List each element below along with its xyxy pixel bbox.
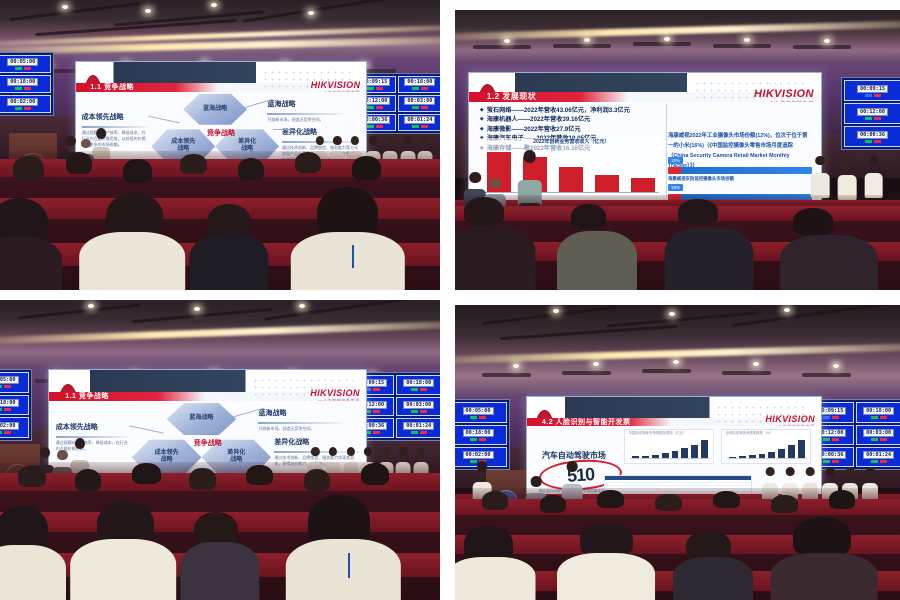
audience-shoulders [0, 237, 62, 290]
audience-shoulders [780, 235, 878, 290]
center-label-text: 竞争战略 [194, 438, 222, 448]
ceiling [0, 0, 440, 64]
timer-value: 00:01:24 [863, 451, 894, 459]
timer-value: 00:18:00 [0, 399, 19, 407]
mini-bar-value: 16% [668, 184, 683, 191]
timer-value: 00:03:00 [403, 401, 434, 409]
audience-area [455, 195, 900, 290]
audience-head [361, 463, 390, 485]
timer-value: 00:18:00 [863, 407, 894, 415]
timer-value: 00:03:00 [404, 97, 435, 105]
audience-head [75, 469, 101, 491]
hexagon-top: 蓝海战略 [167, 402, 237, 435]
timer-value: 00:09:15 [857, 85, 888, 93]
audience-head [180, 154, 206, 175]
ceiling [455, 10, 900, 66]
slide-section-tag: 1.1 竞争战略 [76, 83, 218, 92]
audience-head [352, 156, 381, 180]
judge [811, 156, 830, 201]
note-blue-ocean: 蓝海战略 开辟新市场，创造无竞争空间。 [267, 93, 343, 123]
bullet-item: ◆海康机器人——2022年营收39.16亿元 [480, 115, 663, 125]
audience-head [238, 158, 264, 180]
photo-panel-bottom-right: 00:05:00 00:18:00 00:02:00 00:09:15 00:1… [455, 305, 900, 600]
revenue-bar-chart: 2022年创新业务营收收入（亿元） [480, 138, 663, 200]
center-label-text: 竞争战略 [207, 128, 235, 138]
note-heading: 成本领先战略 [56, 424, 98, 431]
note-heading: 成本领先战略 [82, 114, 124, 121]
timer-cell: 00:02:00 [0, 95, 51, 113]
bullet-text: 萤石网络——2022年营收43.06亿元，净利润3.3亿元 [487, 106, 630, 116]
hikvision-wordmark: HIKVISION [311, 80, 361, 90]
audience-head [132, 463, 161, 484]
auditorium-scene: 00:05:00 00:18:00 00:02:00 00:09:15 00:1… [0, 0, 440, 290]
audience-head [793, 208, 833, 235]
timer-value: 00:18:00 [463, 429, 494, 437]
audience-head [571, 204, 607, 229]
audience-shoulders [180, 542, 259, 600]
audience-head [464, 197, 504, 226]
note-heading: 蓝海战略 [258, 410, 286, 417]
audience-shoulders [557, 231, 637, 290]
mini-bar-value: 12% [668, 157, 683, 164]
audience-shoulders [0, 545, 66, 600]
audience-shoulders [673, 557, 753, 600]
audience-shoulders [79, 232, 185, 290]
note-heading: 差异化战略 [274, 439, 309, 446]
audience-head [678, 199, 718, 226]
bullet-text: 海康机器人——2022年营收39.16亿元 [487, 115, 591, 125]
note-heading: 差异化战略 [282, 129, 317, 136]
audience-shoulders [286, 539, 400, 600]
audience-head [66, 152, 92, 174]
auditorium-scene: 00:05:00 00:18:00 00:02:00 00:09:15 00:1… [0, 300, 440, 600]
audience-head [597, 490, 624, 508]
audience-head [793, 517, 851, 557]
audience-shoulders [455, 225, 535, 290]
hexagon-label: 蓝海战略 [203, 106, 227, 114]
timer-value: 00:18:00 [404, 78, 435, 86]
hexagon-top: 蓝海战略 [183, 93, 247, 125]
audience-head [18, 465, 47, 487]
audience-shoulders [557, 553, 655, 600]
timer-value: 00:05:00 [7, 58, 38, 66]
audience-head [771, 495, 798, 513]
audience-shoulders [771, 553, 878, 600]
hikvision-wordmark: HIKVISION [754, 88, 814, 100]
timer-value: 00:05:00 [463, 407, 494, 415]
chart-caption: 全球自动驾驶渗透率趋势（%） [726, 431, 807, 436]
note-cost-leadership: 成本领先战略 通过规模化生产效率、降低成本，在行业内占据价格优势。 [56, 416, 129, 452]
audience-area [0, 462, 440, 600]
timer-cell: 00:05:00 [0, 55, 51, 73]
photo-panel-top-right: 道阻且长 | 砥中肯綮 | 高掌远跖 | 砥砺深耕 HIKVISION 一心为你… [455, 10, 900, 290]
audience-area [0, 151, 440, 290]
led-timer-wall-left: 00:05:00 00:18:00 00:02:00 [0, 369, 32, 441]
timer-value: 00:01:24 [404, 116, 435, 124]
photo-panel-bottom-left: 00:05:00 00:18:00 00:02:00 00:09:15 00:1… [0, 300, 440, 600]
hexagon-label: 蓝海战略 [189, 415, 213, 423]
audience-head [304, 469, 330, 491]
chart-caption: 中国自动驾驶市场规模及预测（亿元） [629, 431, 710, 436]
market-chart-2: 全球自动驾驶渗透率趋势（%） [721, 429, 811, 464]
timer-value: 00:02:00 [0, 422, 19, 430]
timer-value: 00:12:00 [857, 108, 888, 116]
audience-head [295, 152, 321, 173]
timer-cell: 00:18:00 [0, 75, 51, 93]
hexagon-center-label: 竞争战略 [167, 432, 249, 454]
led-timer-wall-left: 00:05:00 00:18:00 00:02:00 [0, 52, 54, 116]
audience-head [482, 491, 509, 510]
audience-head [655, 494, 682, 512]
audience-head [686, 531, 731, 560]
timer-value: 00:00:36 [857, 131, 888, 139]
audience-head [13, 156, 44, 181]
hikvision-wordmark: HIKVISION [765, 414, 815, 424]
auditorium-scene: 00:05:00 00:18:00 00:02:00 00:09:15 00:1… [455, 305, 900, 600]
led-timer-wall-right: 00:09:15 00:12:00 00:00:36 [841, 77, 900, 150]
audience-shoulders [70, 539, 176, 600]
judge [864, 156, 883, 201]
timer-value: 00:01:24 [403, 422, 434, 430]
audience-shoulders [189, 234, 268, 290]
timer-value: 00:18:00 [7, 78, 38, 86]
market-chart-1: 中国自动驾驶市场规模及预测（亿元） [624, 429, 714, 464]
bullet-text: 海康微影——2022年营收27.9亿元 [487, 125, 581, 135]
hikvision-wordmark: HIKVISION [310, 388, 360, 398]
audience-head [540, 495, 567, 513]
photo-panel-top-left: 00:05:00 00:18:00 00:02:00 00:09:15 00:1… [0, 0, 440, 290]
bullet-item: ◆海康微影——2022年营收27.9亿元 [480, 125, 663, 135]
audience-head [713, 491, 740, 508]
timer-value: 00:02:00 [463, 451, 494, 459]
audience-head [246, 465, 272, 486]
audience-area [455, 488, 900, 600]
timer-value: 00:03:00 [863, 429, 894, 437]
slide-section-tag: 1.1 竞争战略 [49, 392, 204, 401]
slide-section-tag: 4.2 人脸识别与智能开发票 [527, 418, 671, 426]
audience-head [829, 490, 856, 509]
hexagon-center-label: 竞争战略 [183, 122, 259, 143]
timer-value: 00:05:00 [0, 376, 19, 384]
note-blue-ocean: 蓝海战略 开辟新市场，创造无竞争空间。 [258, 402, 340, 432]
auditorium-scene: 道阻且长 | 砥中肯綮 | 高掌远跖 | 砥砺深耕 HIKVISION 一心为你… [455, 10, 900, 290]
photo-grid: 00:05:00 00:18:00 00:02:00 00:09:15 00:1… [0, 0, 900, 600]
timer-value: 00:02:00 [7, 98, 38, 106]
audience-shoulders [290, 232, 404, 290]
audience-head [123, 159, 152, 183]
timer-value: 00:18:00 [403, 379, 434, 387]
audience-head [189, 468, 215, 490]
note-heading: 蓝海战略 [267, 101, 295, 108]
audience-shoulders [455, 557, 535, 600]
bullet-item: ◆萤石网络——2022年营收43.06亿元，净利润3.3亿元 [480, 106, 663, 116]
slide-section-tag: 1.2 发展现状 [469, 92, 627, 101]
audience-shoulders [664, 227, 753, 290]
led-timer-wall-left: 00:05:00 00:18:00 00:02:00 [455, 399, 510, 470]
chart-caption: 2022年创新业务营收收入（亿元） [480, 138, 663, 145]
